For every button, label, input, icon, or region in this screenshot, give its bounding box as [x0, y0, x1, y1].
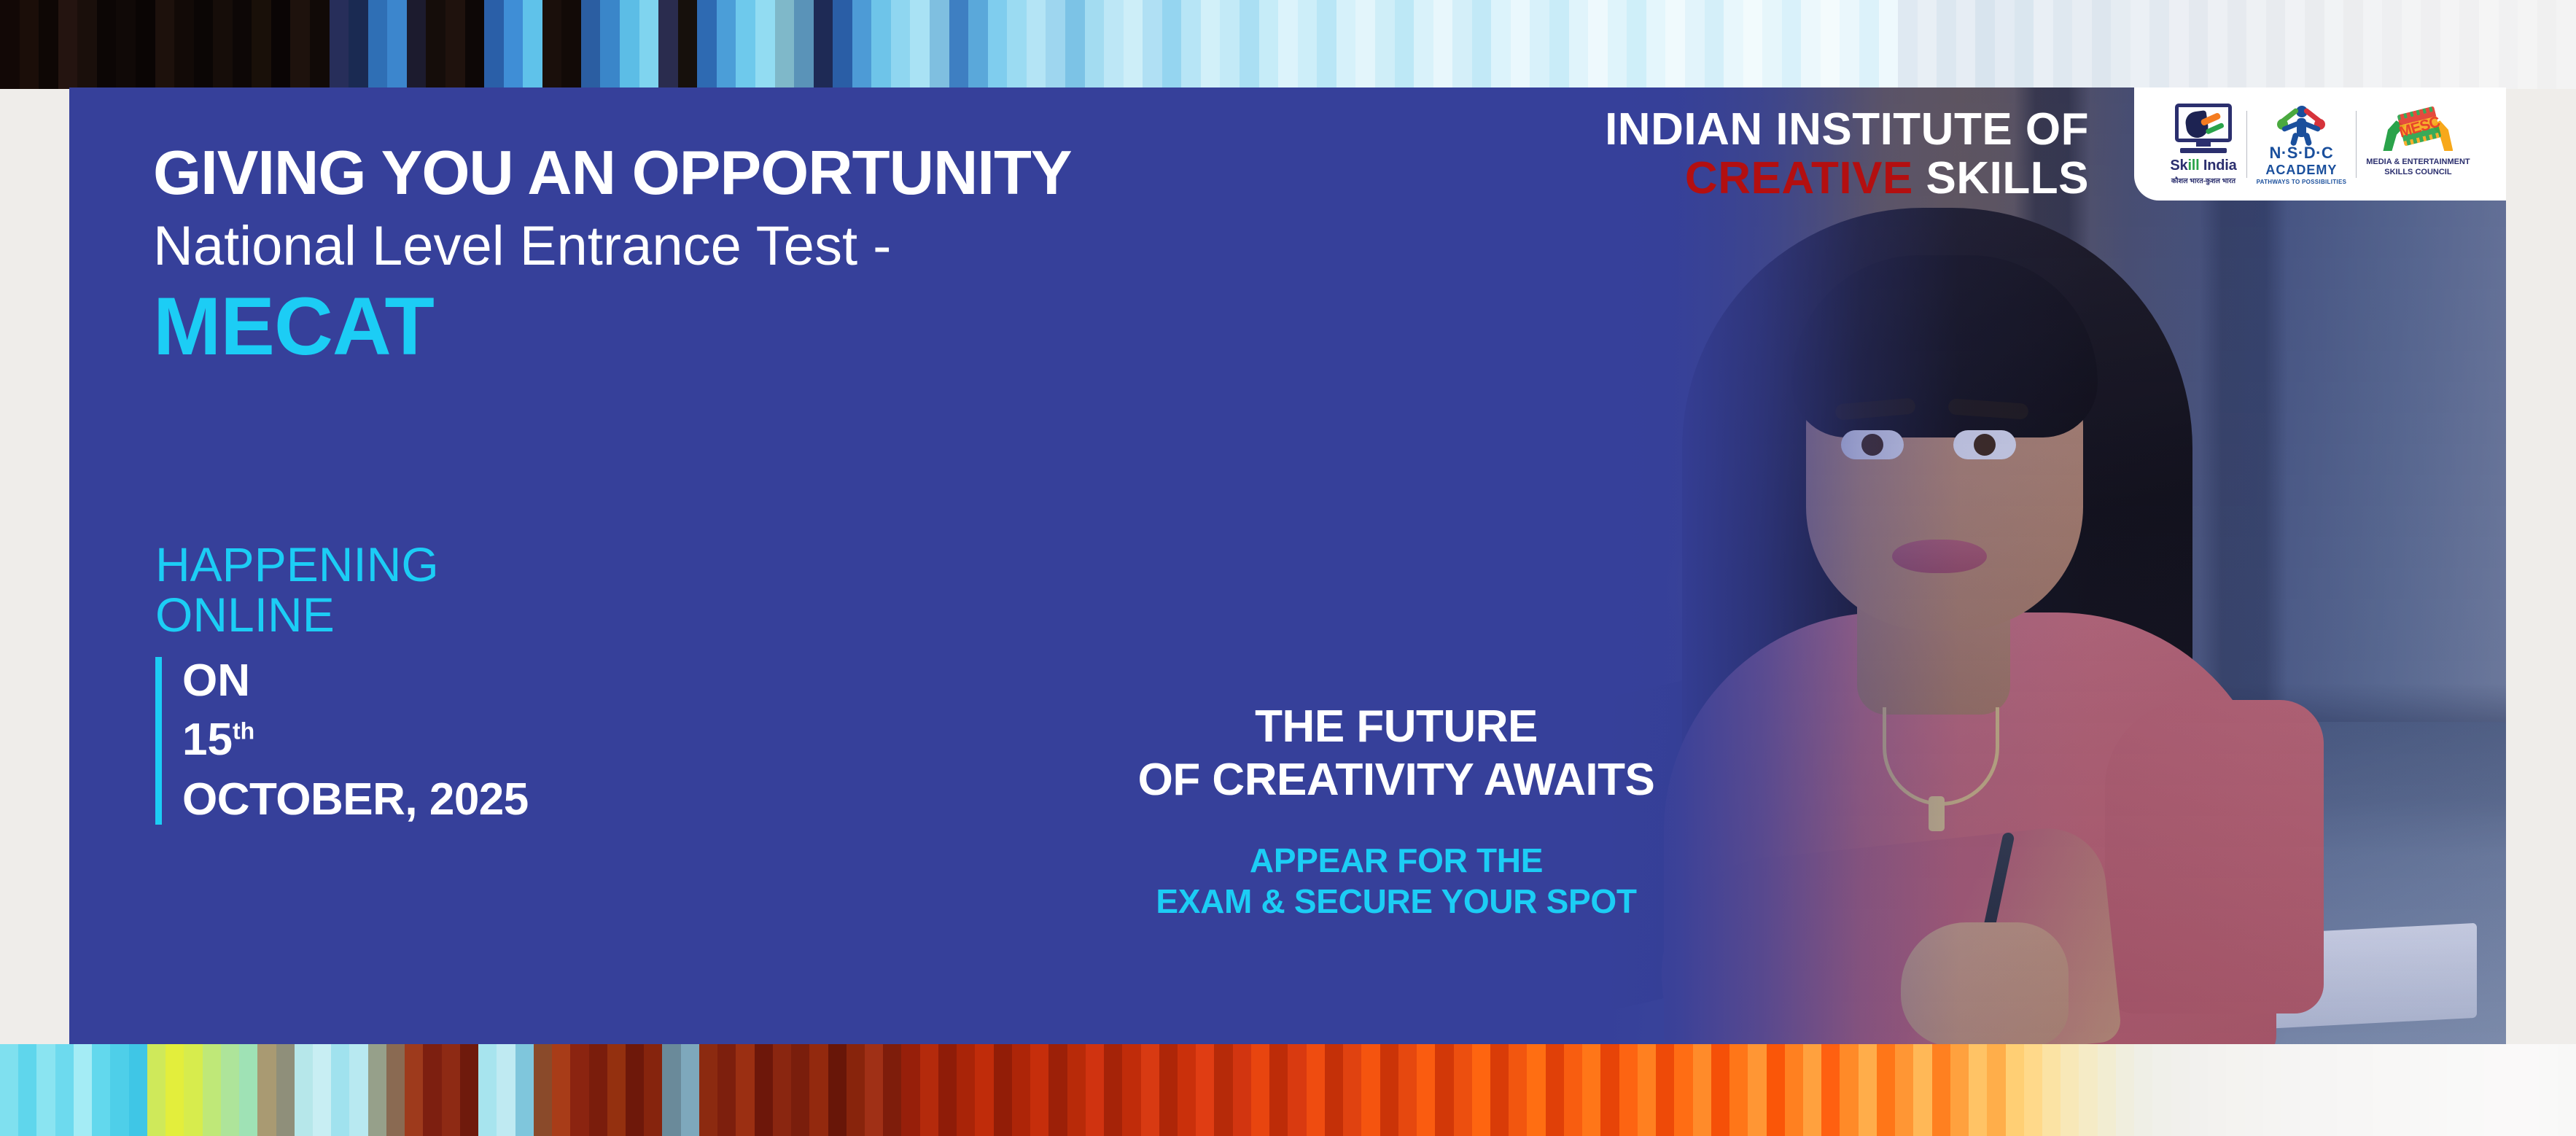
bottom-stripe-128 [2355, 1044, 2373, 1136]
cta-line-1: APPEAR FOR THE [1032, 840, 1761, 881]
top-stripe-13 [252, 0, 271, 89]
bottom-stripe-101 [1859, 1044, 1877, 1136]
top-stripe-29 [561, 0, 581, 89]
top-stripe-1 [20, 0, 39, 89]
headline-primary: GIVING YOU AN OPPORTUNITY [153, 142, 1072, 206]
top-stripe-72 [1395, 0, 1415, 89]
top-stripe-106 [2053, 0, 2073, 89]
partner-logo-mesc: MESC MEDIA & ENTERTAINMENT SKILLS COUNCI… [2357, 104, 2479, 185]
event-block: HAPPENING ONLINE ON 15th OCTOBER, 2025 [155, 540, 529, 825]
top-stripe-80 [1549, 0, 1569, 89]
bottom-stripe-49 [901, 1044, 919, 1136]
top-stripe-97 [1879, 0, 1899, 89]
top-stripe-11 [213, 0, 233, 89]
top-stripe-64 [1240, 0, 1259, 89]
top-stripe-83 [1608, 0, 1627, 89]
top-stripe-91 [1762, 0, 1782, 89]
top-stripe-63 [1220, 0, 1240, 89]
bottom-stripe-100 [1840, 1044, 1858, 1136]
bottom-stripe-138 [2539, 1044, 2557, 1136]
mesc-icon: MESC [2381, 110, 2454, 155]
tagline-line-2: OF CREATIVITY AWAITS [1032, 753, 1761, 806]
bottom-stripe-72 [1325, 1044, 1343, 1136]
bottom-stripe-32 [589, 1044, 607, 1136]
bottom-stripe-113 [2079, 1044, 2097, 1136]
bottom-stripe-94 [1729, 1044, 1748, 1136]
top-stripe-76 [1472, 0, 1492, 89]
mesc-name-line-2: SKILLS COUNCIL [2384, 168, 2451, 176]
top-stripe-54 [1046, 0, 1065, 89]
top-stripe-98 [1898, 0, 1918, 89]
partner-logo-strip: Skill India कौशल भारत-कुशल भारत [2134, 87, 2506, 201]
top-stripe-22 [426, 0, 445, 89]
bottom-stripe-106 [1950, 1044, 1969, 1136]
bottom-stripe-69 [1269, 1044, 1288, 1136]
top-stripe-46 [891, 0, 911, 89]
skill-india-subtitle: कौशल भारत-कुशल भारत [2171, 176, 2235, 185]
top-stripe-48 [930, 0, 949, 89]
bottom-stripe-90 [1656, 1044, 1674, 1136]
bottom-stripe-116 [2134, 1044, 2152, 1136]
top-stripe-104 [2015, 0, 2034, 89]
bottom-stripe-21 [386, 1044, 405, 1136]
top-stripe-34 [658, 0, 678, 89]
top-stripe-32 [620, 0, 639, 89]
bottom-stripe-6 [110, 1044, 128, 1136]
top-stripe-128 [2479, 0, 2499, 89]
top-stripe-28 [542, 0, 562, 89]
bottom-stripe-36 [662, 1044, 680, 1136]
bottom-stripe-85 [1564, 1044, 1582, 1136]
top-stripe-111 [2149, 0, 2169, 89]
bottom-stripe-109 [2006, 1044, 2024, 1136]
top-stripe-124 [2402, 0, 2421, 89]
top-stripe-43 [833, 0, 852, 89]
top-stripe-99 [1918, 0, 1937, 89]
bottom-stripe-8 [147, 1044, 166, 1136]
top-stripe-62 [1201, 0, 1221, 89]
top-stripe-58 [1124, 0, 1143, 89]
bottom-stripe-74 [1361, 1044, 1380, 1136]
top-stripe-14 [271, 0, 291, 89]
top-stripe-116 [2246, 0, 2266, 89]
skill-india-name-prefix: Sk [2170, 157, 2187, 174]
top-stripe-93 [1801, 0, 1821, 89]
bottom-stripe-86 [1582, 1044, 1600, 1136]
top-stripe-56 [1085, 0, 1105, 89]
top-stripe-114 [2208, 0, 2227, 89]
bottom-stripe-76 [1398, 1044, 1417, 1136]
top-stripe-55 [1065, 0, 1085, 89]
bottom-stripe-129 [2373, 1044, 2392, 1136]
skill-india-name-bars: ill [2187, 157, 2199, 174]
top-stripe-101 [1956, 0, 1976, 89]
bottom-stripe-18 [331, 1044, 349, 1136]
top-stripe-94 [1821, 0, 1840, 89]
bottom-stripe-139 [2558, 1044, 2576, 1136]
bottom-stripe-96 [1767, 1044, 1785, 1136]
top-stripe-119 [2305, 0, 2324, 89]
top-stripe-95 [1840, 0, 1859, 89]
top-stripe-16 [310, 0, 330, 89]
bottom-stripe-83 [1527, 1044, 1545, 1136]
bottom-stripe-4 [74, 1044, 92, 1136]
date-lines: ON 15th OCTOBER, 2025 [182, 657, 529, 825]
top-stripe-7 [136, 0, 155, 89]
bottom-stripe-112 [2061, 1044, 2079, 1136]
date-accent-bar [155, 657, 162, 825]
top-stripe-107 [2072, 0, 2092, 89]
top-stripe-47 [910, 0, 930, 89]
bottom-stripe-64 [1178, 1044, 1196, 1136]
date-on-label: ON [182, 657, 529, 706]
bottom-stripe-14 [257, 1044, 276, 1136]
bottom-stripe-50 [920, 1044, 938, 1136]
bottom-stripe-73 [1343, 1044, 1361, 1136]
bottom-stripe-38 [699, 1044, 717, 1136]
bottom-stripe-27 [497, 1044, 515, 1136]
bottom-stripe-12 [221, 1044, 239, 1136]
bottom-stripe-40 [736, 1044, 754, 1136]
bottom-stripe-130 [2392, 1044, 2410, 1136]
brand-lockup: INDIAN INSTITUTE OF CREATIVE SKILLS [1605, 106, 2089, 203]
top-stripe-74 [1433, 0, 1453, 89]
bottom-stripe-9 [166, 1044, 184, 1136]
bottom-stripe-29 [534, 1044, 552, 1136]
bottom-stripe-126 [2319, 1044, 2337, 1136]
top-stripe-10 [194, 0, 214, 89]
top-stripe-33 [639, 0, 659, 89]
top-stripe-6 [116, 0, 136, 89]
headline-block: GIVING YOU AN OPPORTUNITY National Level… [153, 142, 1072, 367]
skill-india-keyboard [2180, 148, 2227, 153]
bottom-stripe-125 [2300, 1044, 2318, 1136]
bottom-stripe-134 [2465, 1044, 2483, 1136]
top-stripe-35 [678, 0, 698, 89]
top-stripe-120 [2324, 0, 2344, 89]
top-stripe-92 [1782, 0, 1802, 89]
bottom-stripe-78 [1435, 1044, 1453, 1136]
bottom-stripe-103 [1895, 1044, 1913, 1136]
top-stripe-82 [1588, 0, 1608, 89]
bottom-stripe-89 [1638, 1044, 1656, 1136]
cta-line-2: EXAM & SECURE YOUR SPOT [1032, 881, 1761, 922]
top-stripe-59 [1143, 0, 1162, 89]
top-stripe-50 [968, 0, 988, 89]
top-stripe-41 [794, 0, 814, 89]
top-stripe-30 [581, 0, 601, 89]
bottom-stripe-59 [1086, 1044, 1104, 1136]
banner-root: INDIAN INSTITUTE OF CREATIVE SKILLS Skil… [0, 0, 2576, 1136]
top-stripe-69 [1336, 0, 1356, 89]
top-stripe-61 [1181, 0, 1201, 89]
bottom-stripe-24 [442, 1044, 460, 1136]
top-stripe-27 [523, 0, 542, 89]
nsdc-academy-label: ACADEMY [2265, 163, 2337, 178]
brand-line-1: INDIAN INSTITUTE OF [1605, 106, 2089, 155]
top-stripe-42 [814, 0, 833, 89]
bottom-stripe-135 [2484, 1044, 2502, 1136]
bottom-stripe-107 [1969, 1044, 1987, 1136]
top-stripe-60 [1162, 0, 1182, 89]
bottom-stripe-33 [607, 1044, 626, 1136]
top-stripe-18 [349, 0, 368, 89]
bottom-stripe-25 [460, 1044, 478, 1136]
top-stripe-123 [2382, 0, 2402, 89]
bottom-stripe-7 [129, 1044, 147, 1136]
top-stripe-66 [1278, 0, 1298, 89]
top-stripe-67 [1298, 0, 1318, 89]
bottom-stripe-52 [957, 1044, 975, 1136]
bottom-stripe-117 [2152, 1044, 2171, 1136]
top-stripe-0 [0, 0, 20, 89]
bottom-stripe-97 [1785, 1044, 1803, 1136]
top-stripe-88 [1705, 0, 1724, 89]
date-day-number: 15 [182, 715, 233, 765]
bottom-stripe-34 [626, 1044, 644, 1136]
bottom-stripe-68 [1251, 1044, 1269, 1136]
top-stripe-73 [1414, 0, 1433, 89]
bottom-stripe-122 [2245, 1044, 2263, 1136]
date-row: ON 15th OCTOBER, 2025 [155, 657, 529, 825]
top-stripe-3 [58, 0, 78, 89]
top-stripe-109 [2111, 0, 2131, 89]
bottom-stripe-46 [847, 1044, 865, 1136]
top-stripe-20 [387, 0, 407, 89]
bottom-stripe-61 [1122, 1044, 1140, 1136]
bottom-stripe-81 [1490, 1044, 1509, 1136]
brand-skills-word: SKILLS [1913, 153, 2089, 203]
bottom-stripe-58 [1067, 1044, 1086, 1136]
happening-line-2: ONLINE [155, 590, 529, 640]
bottom-stripe-band [0, 1044, 2576, 1136]
top-stripe-49 [949, 0, 969, 89]
top-stripe-86 [1665, 0, 1685, 89]
top-stripe-15 [290, 0, 310, 89]
nsdc-name: N·S·D·C [2269, 144, 2333, 163]
top-stripe-127 [2459, 0, 2479, 89]
bottom-stripe-28 [515, 1044, 534, 1136]
top-stripe-77 [1491, 0, 1511, 89]
bottom-stripe-30 [552, 1044, 570, 1136]
skill-india-monitor-icon [2175, 104, 2232, 142]
top-stripe-85 [1646, 0, 1666, 89]
bottom-stripe-98 [1803, 1044, 1821, 1136]
bottom-stripe-120 [2208, 1044, 2226, 1136]
top-stripe-band [0, 0, 2576, 89]
skill-india-name-suffix: India [2200, 157, 2237, 174]
bottom-stripe-65 [1196, 1044, 1214, 1136]
bottom-stripe-39 [717, 1044, 736, 1136]
top-stripe-102 [1975, 0, 1995, 89]
bottom-stripe-115 [2116, 1044, 2134, 1136]
bottom-stripe-56 [1030, 1044, 1048, 1136]
mesc-name: MEDIA & ENTERTAINMENT SKILLS COUNCIL [2366, 157, 2470, 178]
top-stripe-53 [1027, 0, 1046, 89]
top-stripe-129 [2499, 0, 2518, 89]
top-stripe-36 [697, 0, 717, 89]
top-stripe-90 [1743, 0, 1763, 89]
top-stripe-113 [2189, 0, 2209, 89]
top-stripe-110 [2131, 0, 2150, 89]
bottom-stripe-15 [276, 1044, 295, 1136]
bottom-stripe-127 [2337, 1044, 2355, 1136]
bottom-stripe-132 [2429, 1044, 2447, 1136]
top-stripe-118 [2285, 0, 2305, 89]
bottom-stripe-137 [2521, 1044, 2539, 1136]
top-stripe-65 [1259, 0, 1279, 89]
bottom-stripe-55 [1012, 1044, 1030, 1136]
bottom-stripe-110 [2024, 1044, 2042, 1136]
bottom-stripe-124 [2281, 1044, 2300, 1136]
bottom-stripe-0 [0, 1044, 18, 1136]
bottom-stripe-95 [1748, 1044, 1766, 1136]
top-stripe-52 [1007, 0, 1027, 89]
top-stripe-87 [1685, 0, 1705, 89]
bottom-stripe-82 [1509, 1044, 1527, 1136]
bottom-stripe-22 [405, 1044, 423, 1136]
top-stripe-4 [77, 0, 97, 89]
nsdc-tagline: PATHWAYS TO POSSIBILITIES [2257, 179, 2347, 185]
bottom-stripe-92 [1693, 1044, 1711, 1136]
top-stripe-112 [2169, 0, 2189, 89]
top-stripe-51 [988, 0, 1008, 89]
bottom-stripe-53 [975, 1044, 993, 1136]
bottom-stripe-114 [2098, 1044, 2116, 1136]
bottom-stripe-60 [1104, 1044, 1122, 1136]
top-stripe-79 [1530, 0, 1549, 89]
top-stripe-45 [871, 0, 891, 89]
skill-india-name: Skill India [2170, 157, 2236, 174]
bottom-stripe-19 [349, 1044, 367, 1136]
bottom-stripe-16 [295, 1044, 313, 1136]
mesc-name-line-1: MEDIA & ENTERTAINMENT [2366, 157, 2470, 166]
brand-creative-word: CREATIVE [1685, 153, 1913, 203]
top-stripe-26 [504, 0, 524, 89]
bottom-stripe-47 [865, 1044, 883, 1136]
top-stripe-131 [2537, 0, 2557, 89]
top-stripe-17 [330, 0, 349, 89]
top-stripe-37 [717, 0, 736, 89]
bottom-stripe-2 [36, 1044, 55, 1136]
top-stripe-132 [2556, 0, 2576, 89]
top-stripe-19 [368, 0, 388, 89]
bottom-stripe-84 [1546, 1044, 1564, 1136]
top-stripe-78 [1511, 0, 1530, 89]
bottom-stripe-17 [313, 1044, 331, 1136]
bottom-stripe-105 [1932, 1044, 1950, 1136]
bottom-stripe-99 [1821, 1044, 1840, 1136]
top-stripe-81 [1569, 0, 1589, 89]
top-stripe-57 [1104, 0, 1124, 89]
bottom-stripe-80 [1472, 1044, 1490, 1136]
bottom-stripe-23 [423, 1044, 441, 1136]
bottom-stripe-13 [239, 1044, 257, 1136]
bottom-stripe-43 [791, 1044, 809, 1136]
tagline-block: THE FUTURE OF CREATIVITY AWAITS APPEAR F… [1032, 700, 1761, 922]
top-stripe-8 [155, 0, 175, 89]
bottom-stripe-88 [1619, 1044, 1638, 1136]
bottom-stripe-3 [55, 1044, 74, 1136]
bottom-stripe-10 [184, 1044, 202, 1136]
main-blue-panel: INDIAN INSTITUTE OF CREATIVE SKILLS Skil… [69, 87, 2506, 1049]
top-stripe-108 [2092, 0, 2112, 89]
top-stripe-125 [2421, 0, 2440, 89]
bottom-stripe-37 [681, 1044, 699, 1136]
top-stripe-105 [2034, 0, 2053, 89]
top-stripe-39 [755, 0, 775, 89]
top-stripe-121 [2343, 0, 2363, 89]
top-stripe-40 [775, 0, 795, 89]
bottom-stripe-41 [755, 1044, 773, 1136]
bottom-stripe-70 [1288, 1044, 1306, 1136]
bottom-stripe-11 [203, 1044, 221, 1136]
bottom-stripe-119 [2190, 1044, 2208, 1136]
bottom-stripe-48 [883, 1044, 901, 1136]
date-day: 15th [182, 713, 529, 767]
bottom-stripe-44 [809, 1044, 828, 1136]
bottom-stripe-54 [994, 1044, 1012, 1136]
bottom-stripe-131 [2410, 1044, 2429, 1136]
bottom-stripe-57 [1048, 1044, 1067, 1136]
bottom-stripe-93 [1711, 1044, 1729, 1136]
top-stripe-103 [1995, 0, 2015, 89]
bottom-stripe-91 [1674, 1044, 1692, 1136]
top-stripe-115 [2227, 0, 2247, 89]
top-stripe-31 [600, 0, 620, 89]
brand-line-2: CREATIVE SKILLS [1605, 155, 2089, 203]
bottom-stripe-51 [938, 1044, 957, 1136]
top-stripe-12 [233, 0, 252, 89]
top-stripe-96 [1859, 0, 1879, 89]
skill-india-monitor-stand [2196, 142, 2211, 147]
bottom-stripe-71 [1307, 1044, 1325, 1136]
nsdc-people-icon [2270, 104, 2332, 142]
top-stripe-24 [465, 0, 485, 89]
top-stripe-100 [1937, 0, 1956, 89]
top-stripe-44 [852, 0, 872, 89]
bottom-stripe-26 [478, 1044, 497, 1136]
headline-secondary: National Level Entrance Test - [153, 213, 1072, 281]
bottom-stripe-104 [1913, 1044, 1931, 1136]
partner-logo-skill-india: Skill India कौशल भारत-कुशल भारत [2160, 104, 2246, 185]
bottom-stripe-67 [1233, 1044, 1251, 1136]
top-stripe-126 [2440, 0, 2460, 89]
top-stripe-89 [1724, 0, 1743, 89]
date-month-year: OCTOBER, 2025 [182, 775, 529, 825]
bottom-stripe-136 [2502, 1044, 2521, 1136]
bottom-stripe-62 [1141, 1044, 1159, 1136]
top-stripe-70 [1355, 0, 1375, 89]
bottom-stripe-31 [570, 1044, 588, 1136]
bottom-stripe-108 [1987, 1044, 2005, 1136]
top-stripe-84 [1627, 0, 1646, 89]
bottom-stripe-63 [1159, 1044, 1178, 1136]
top-stripe-9 [174, 0, 194, 89]
top-stripe-2 [39, 0, 58, 89]
bottom-stripe-111 [2042, 1044, 2061, 1136]
happening-line-1: HAPPENING [155, 540, 529, 590]
top-stripe-75 [1452, 0, 1472, 89]
bottom-stripe-1 [18, 1044, 36, 1136]
bottom-stripe-5 [92, 1044, 110, 1136]
bottom-stripe-121 [2226, 1044, 2244, 1136]
bottom-stripe-42 [773, 1044, 791, 1136]
bottom-stripe-133 [2447, 1044, 2465, 1136]
bottom-stripe-79 [1454, 1044, 1472, 1136]
bottom-stripe-102 [1877, 1044, 1895, 1136]
top-stripe-130 [2518, 0, 2537, 89]
